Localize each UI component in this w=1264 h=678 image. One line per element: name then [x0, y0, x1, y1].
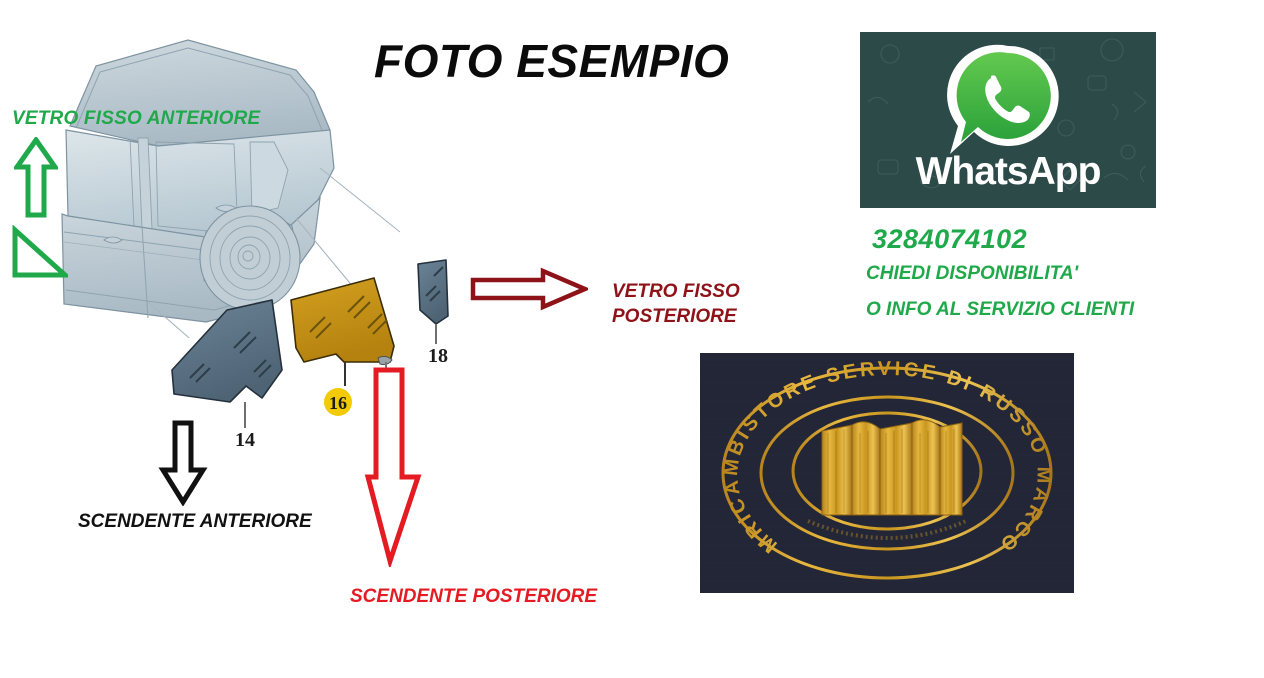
whatsapp-logo-icon: [938, 42, 1078, 160]
whatsapp-cta-line2: O INFO AL SERVIZIO CLIENTI: [866, 299, 1134, 320]
callout-18-text: 18: [428, 345, 448, 367]
whatsapp-banner: WhatsApp: [860, 32, 1156, 208]
label-vetro-fisso-anteriore: VETRO FISSO ANTERIORE: [12, 108, 260, 129]
label-vetro-fisso-posteriore-line2: POSTERIORE: [612, 305, 740, 330]
part-16-shape: [291, 278, 394, 362]
whatsapp-wordmark: WhatsApp: [860, 150, 1156, 194]
dark-red-right-arrow-icon: [470, 267, 588, 316]
label-scendente-posteriore: SCENDENTE POSTERIORE: [350, 586, 597, 607]
page-title: FOTO ESEMPIO: [374, 34, 794, 88]
company-monogram: [822, 420, 962, 515]
label-scendente-anteriore: SCENDENTE ANTERIORE: [78, 511, 312, 532]
whatsapp-phone-number[interactable]: 3284074102: [872, 224, 1027, 254]
whatsapp-cta-line1: CHIEDI DISPONIBILITA': [866, 263, 1078, 284]
red-down-arrow-icon: [362, 367, 428, 572]
green-triangle-arrow-icon: [8, 225, 68, 286]
part-18-shape: [418, 260, 448, 324]
part-14-shape: [172, 300, 282, 402]
callout-16-text: 16: [329, 393, 347, 413]
callout-14-text: 14: [235, 429, 255, 451]
black-down-arrow-icon: [158, 420, 208, 511]
company-logo-photo: MRICAMBISTORE SERVICE DI RUSSO MARCO: [700, 353, 1074, 593]
label-vetro-fisso-posteriore-line1: VETRO FISSO: [612, 280, 740, 305]
label-vetro-fisso-posteriore: VETRO FISSO POSTERIORE: [612, 280, 740, 329]
green-up-arrow-icon: [14, 137, 58, 224]
